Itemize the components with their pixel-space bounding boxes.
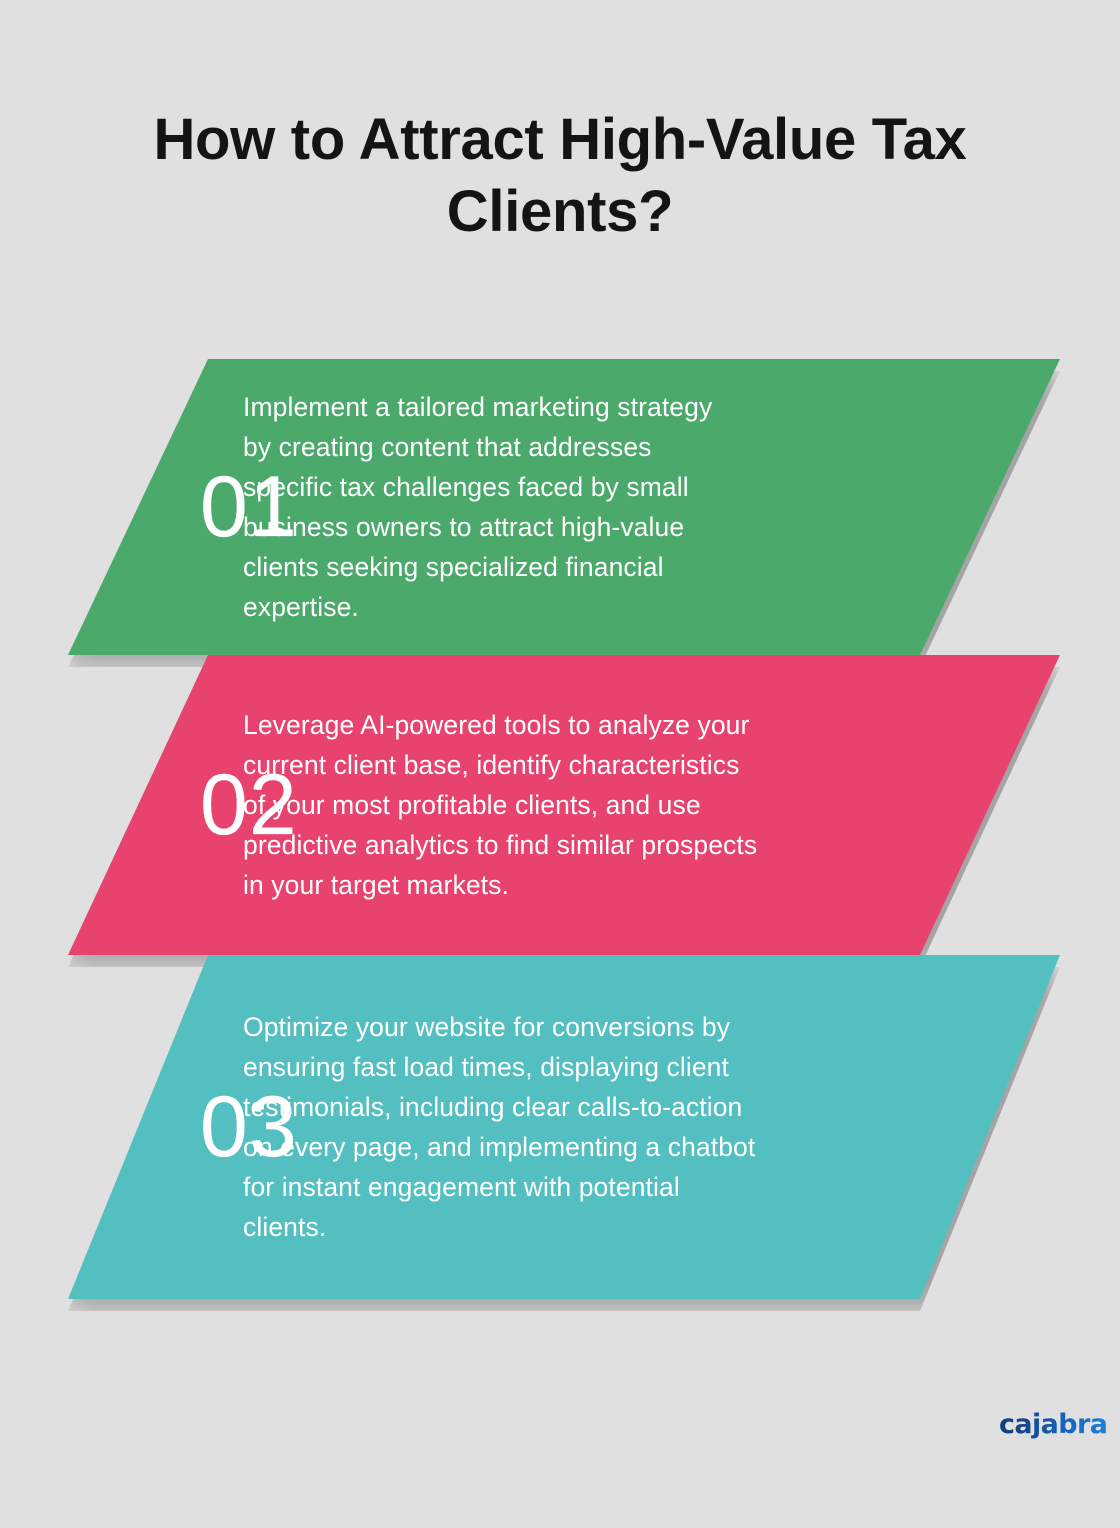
- steps-list: 01 Implement a tailored marketing strate…: [0, 359, 1120, 1299]
- step-card-2-inner: 02 Leverage AI-powered tools to analyze …: [68, 655, 1060, 955]
- step-card-2: 02 Leverage AI-powered tools to analyze …: [68, 655, 1060, 955]
- step-card-1-inner: 01 Implement a tailored marketing strate…: [68, 359, 1060, 655]
- page-title-container: How to Attract High-Value Tax Clients?: [60, 104, 1060, 248]
- step-text-1: Implement a tailored marketing strategy …: [243, 387, 853, 627]
- step-number-1: 01: [68, 464, 243, 550]
- step-card-3: 03 Optimize your website for conversions…: [68, 955, 1060, 1299]
- step-card-3-inner: 03 Optimize your website for conversions…: [68, 955, 1060, 1299]
- page-title: How to Attract High-Value Tax Clients?: [60, 104, 1060, 248]
- step-number-3: 03: [68, 1084, 243, 1170]
- step-text-2: Leverage AI-powered tools to analyze you…: [243, 705, 905, 905]
- cajabra-logo: cajabra: [999, 1409, 1107, 1441]
- step-text-3: Optimize your website for conversions by…: [243, 1007, 899, 1247]
- step-number-2: 02: [68, 762, 243, 848]
- infographic-page: How to Attract High-Value Tax Clients? 0…: [0, 0, 1120, 1528]
- step-card-1: 01 Implement a tailored marketing strate…: [68, 359, 1060, 655]
